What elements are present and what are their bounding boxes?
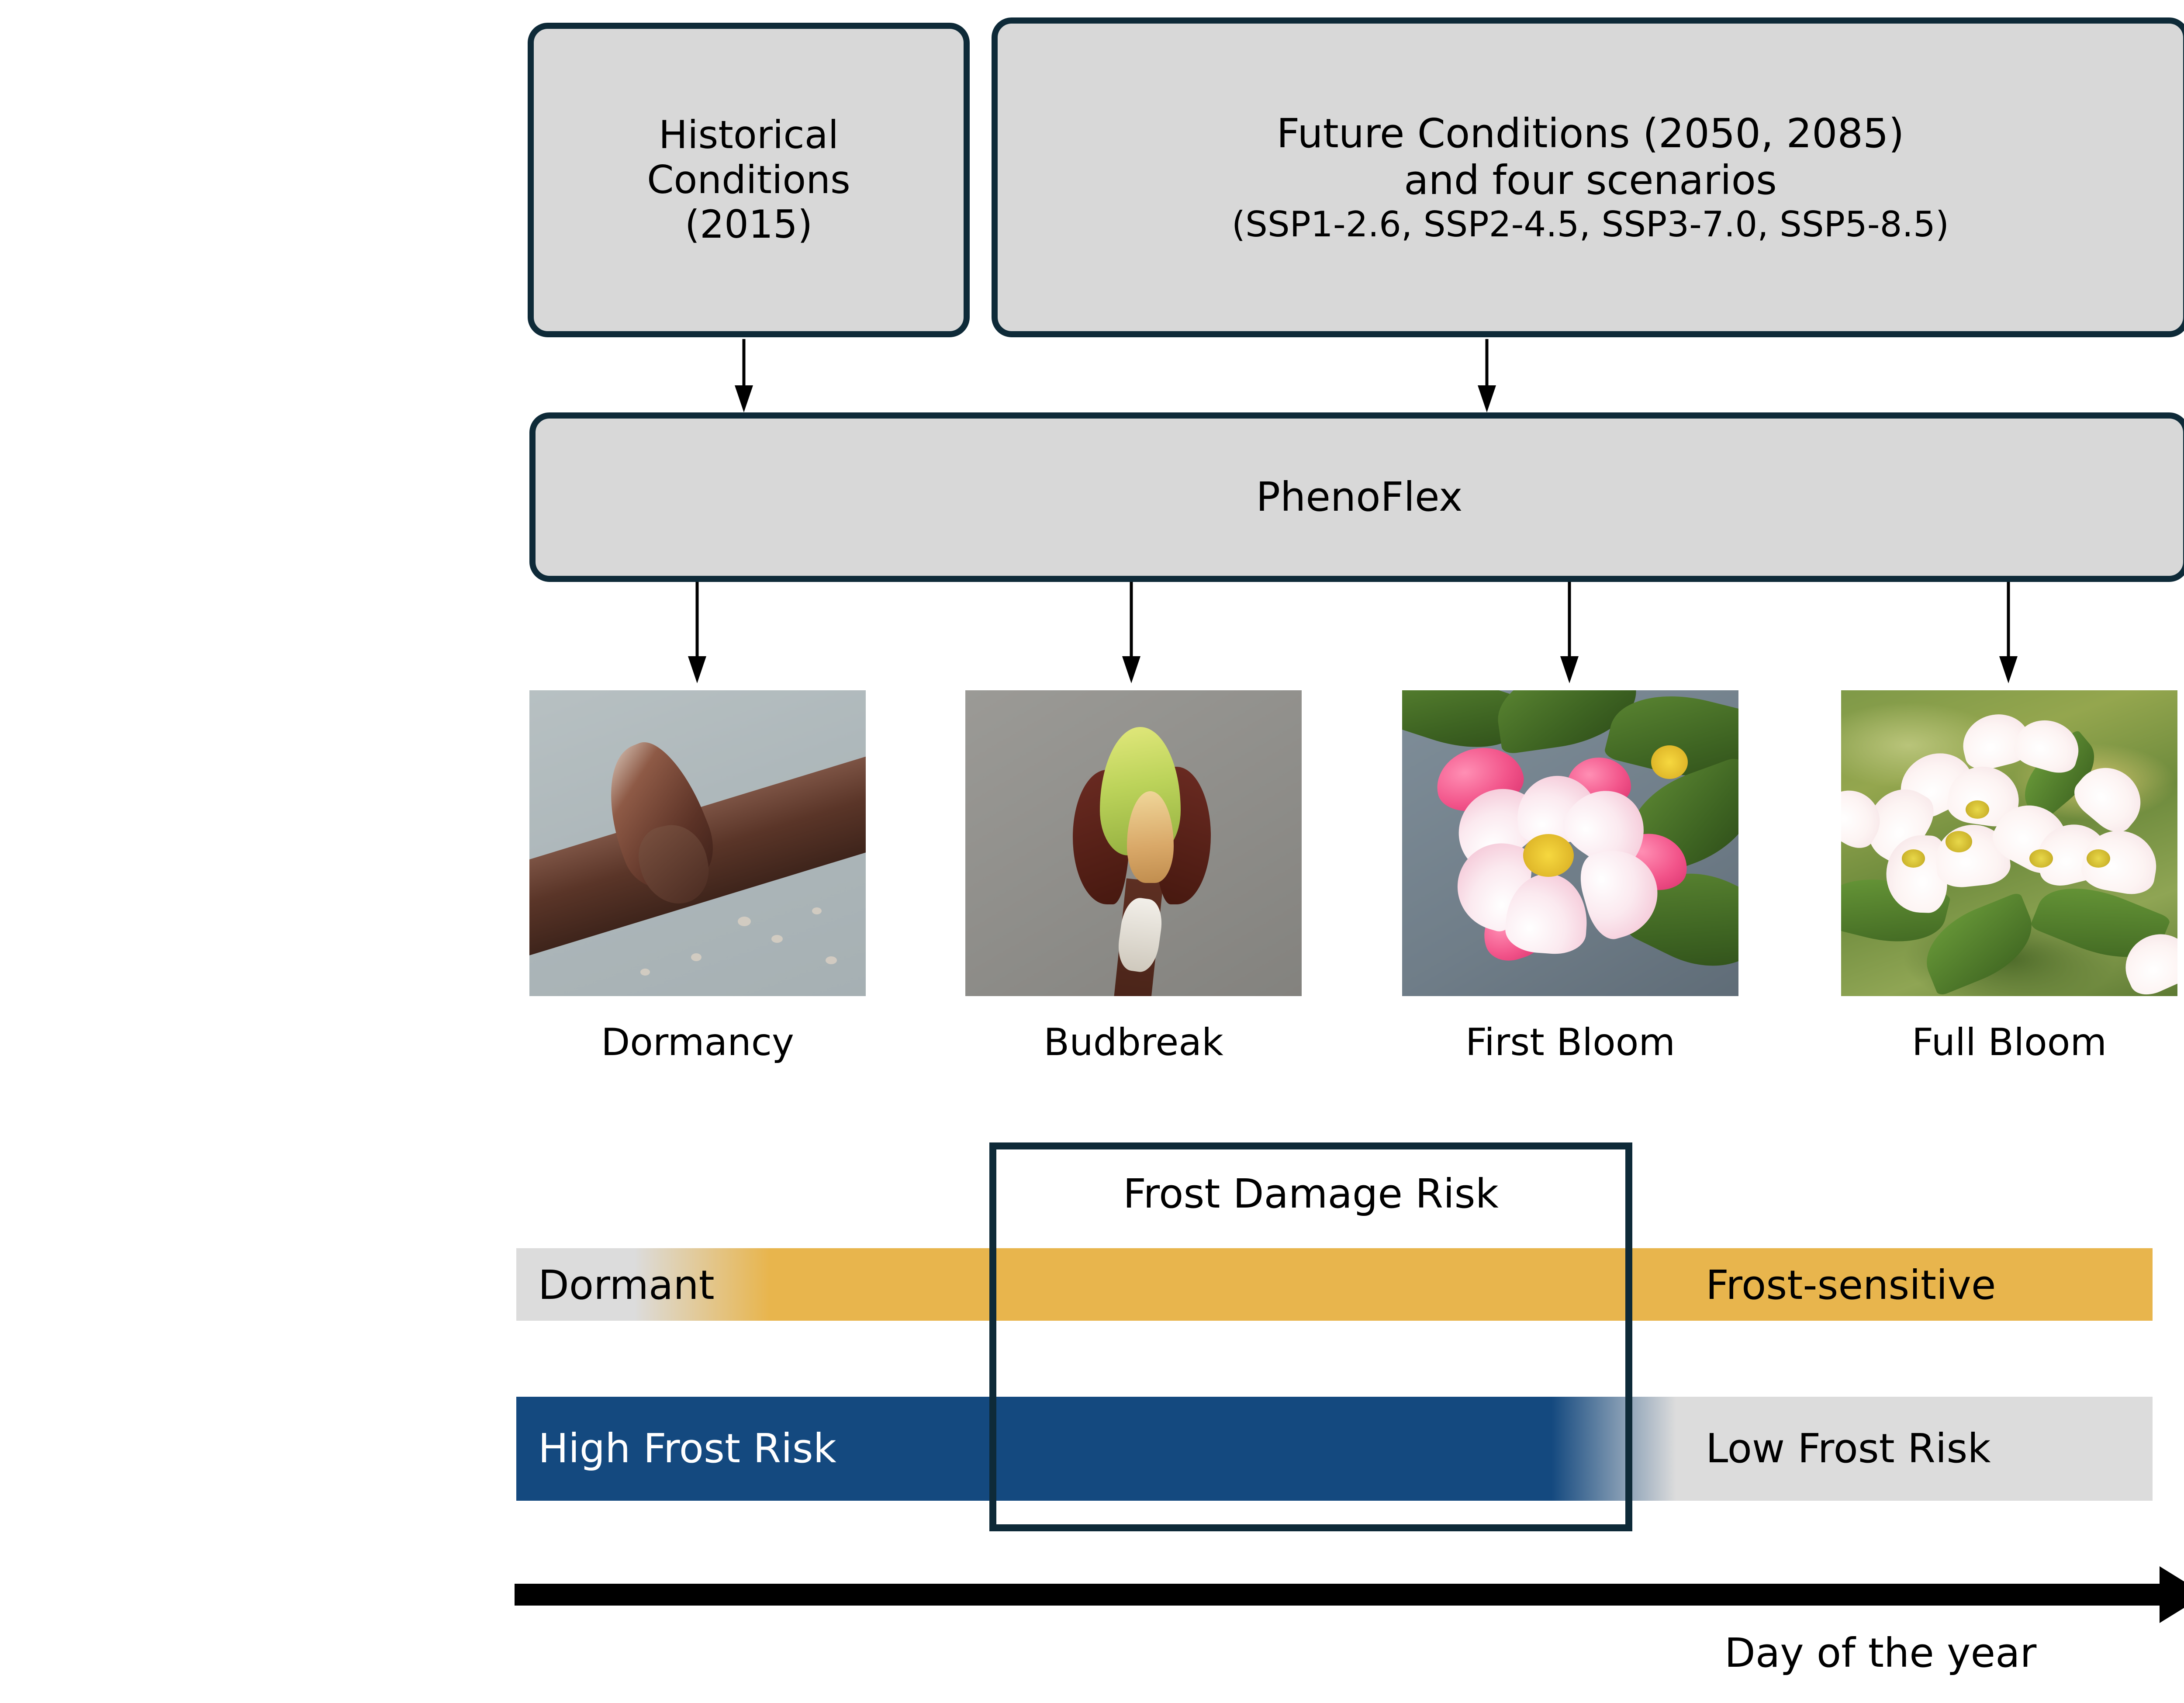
phenoflex-model-box: PhenoFlex <box>529 412 2184 582</box>
sensitivity-bar-right-label: Frost-sensitive <box>1706 1262 1996 1308</box>
historical-line-3: (2015) <box>647 202 850 247</box>
frost-damage-risk-box: Frost Damage Risk <box>989 1142 1632 1531</box>
frost-risk-bar-left-label: High Frost Risk <box>538 1425 836 1472</box>
historical-conditions-box: Historical Conditions (2015) <box>528 23 970 337</box>
future-scenarios-line: (SSP1-2.6, SSP2-4.5, SSP3-7.0, SSP5-8.5) <box>1232 204 1949 245</box>
stage-label-full-bloom: Full Bloom <box>1841 1021 2177 1064</box>
sensitivity-bar-left-label: Dormant <box>538 1262 715 1308</box>
day-of-year-axis-label: Day of the year <box>1724 1630 2036 1676</box>
stage-photo-full-bloom <box>1841 690 2177 996</box>
future-conditions-box: Future Conditions (2050, 2085) and four … <box>992 17 2184 337</box>
historical-line-1: Historical <box>647 113 850 158</box>
stage-label-dormancy: Dormancy <box>529 1021 866 1064</box>
day-of-year-axis-arrowhead <box>2160 1566 2184 1623</box>
frost-damage-risk-label: Frost Damage Risk <box>996 1170 1625 1217</box>
historical-line-2: Conditions <box>647 158 850 203</box>
phenoflex-label: PhenoFlex <box>1256 474 1463 521</box>
stage-photo-budbreak <box>965 690 1302 996</box>
frost-risk-bar-right-label: Low Frost Risk <box>1706 1425 1991 1472</box>
stage-photo-first-bloom <box>1402 690 1738 996</box>
stage-photo-dormancy <box>529 690 866 996</box>
stage-label-first-bloom: First Bloom <box>1402 1021 1738 1064</box>
day-of-year-axis-line <box>515 1584 2161 1606</box>
stage-label-budbreak: Budbreak <box>965 1021 1302 1064</box>
future-line-1: Future Conditions (2050, 2085) <box>1232 110 1949 157</box>
future-line-2: and four scenarios <box>1232 157 1949 204</box>
